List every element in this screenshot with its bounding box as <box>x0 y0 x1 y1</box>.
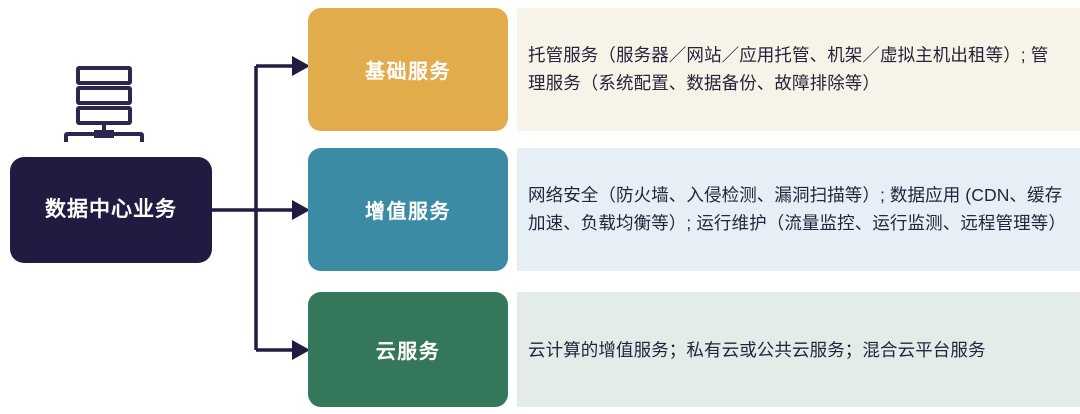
category-label: 云服务 <box>376 335 441 364</box>
datacenter-services-diagram: 数据中心业务 基础服务 托管服务（服务器／网站／应用托管、机架／虚拟主机出租等）… <box>0 0 1080 414</box>
description-panel-value-added-services: 网络安全（防火墙、入侵检测、漏洞扫描等）; 数据应用 (CDN、缓存加速、负载均… <box>517 148 1080 271</box>
description-text: 托管服务（服务器／网站／应用托管、机架／虚拟主机出租等）; 管理服务（系统配置、… <box>517 42 1080 96</box>
service-row: 增值服务 网络安全（防火墙、入侵检测、漏洞扫描等）; 数据应用 (CDN、缓存加… <box>0 148 1080 271</box>
description-text: 云计算的增值服务；私有云或公共云服务；混合云平台服务 <box>517 335 1002 364</box>
category-box-value-added-services[interactable]: 增值服务 <box>308 148 508 271</box>
category-box-cloud-services[interactable]: 云服务 <box>308 292 508 407</box>
description-panel-basic-services: 托管服务（服务器／网站／应用托管、机架／虚拟主机出租等）; 管理服务（系统配置、… <box>517 8 1080 131</box>
description-text: 网络安全（防火墙、入侵检测、漏洞扫描等）; 数据应用 (CDN、缓存加速、负载均… <box>517 182 1080 236</box>
category-label: 基础服务 <box>365 55 451 84</box>
description-panel-cloud-services: 云计算的增值服务；私有云或公共云服务；混合云平台服务 <box>517 292 1080 407</box>
service-row: 基础服务 托管服务（服务器／网站／应用托管、机架／虚拟主机出租等）; 管理服务（… <box>0 8 1080 131</box>
category-box-basic-services[interactable]: 基础服务 <box>308 8 508 131</box>
category-label: 增值服务 <box>365 195 451 224</box>
service-row: 云服务 云计算的增值服务；私有云或公共云服务；混合云平台服务 <box>0 292 1080 407</box>
